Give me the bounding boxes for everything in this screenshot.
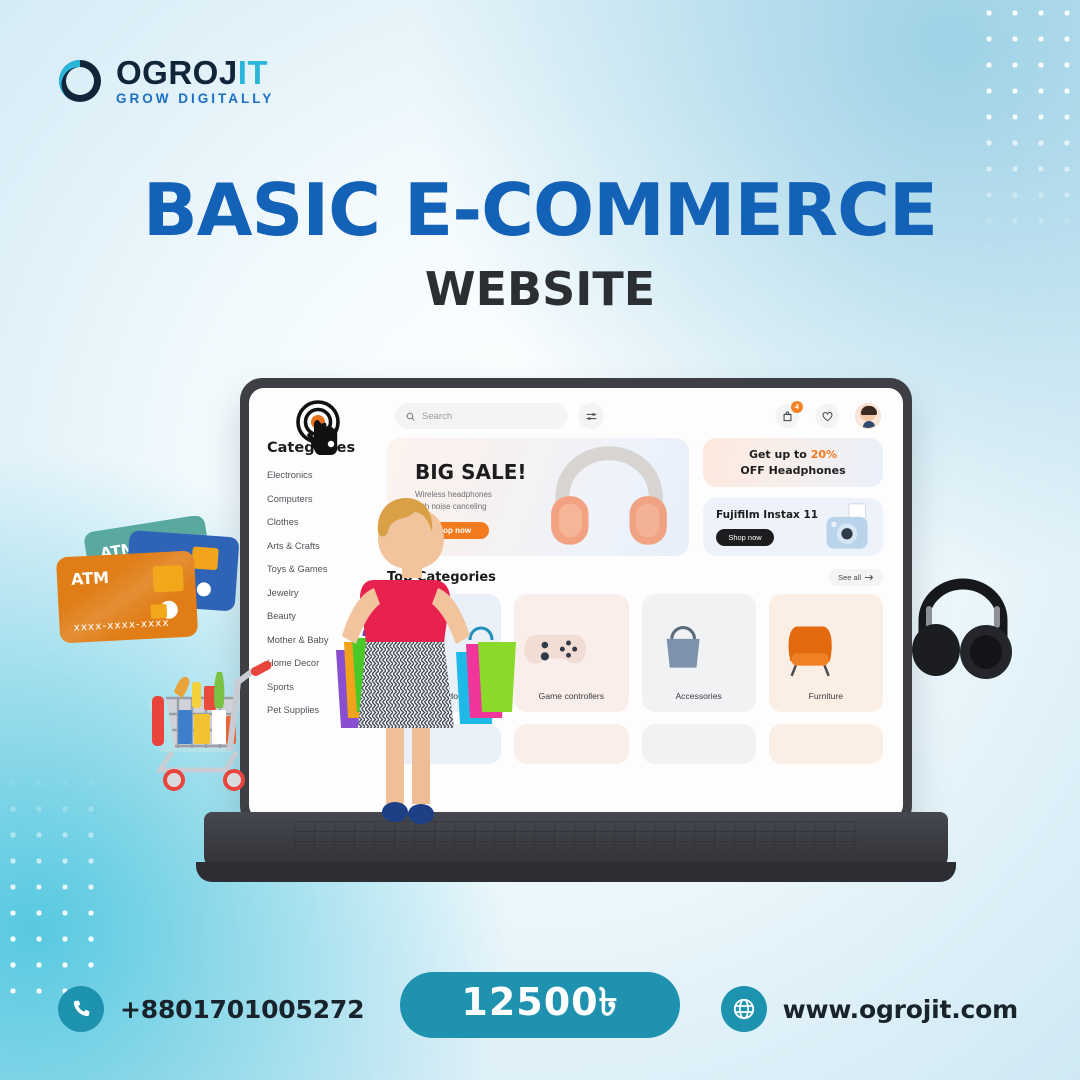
promo-fujifilm[interactable]: Fujifilm Instax 11 Shop now [703,498,883,556]
sidebar-item-electronics[interactable]: Electronics [267,470,385,480]
promo-headphones-discount[interactable]: Get up to 20% OFF Headphones [703,438,883,487]
footer-website[interactable]: www.ogrojit.com [721,986,1018,1032]
game-controller-icon [514,608,596,680]
promo-fujifilm-shop-now-button[interactable]: Shop now [716,529,774,546]
page-subtitle: WEBSITE [0,262,1080,316]
see-all-button[interactable]: See all [829,569,883,586]
cart-button[interactable]: 4 [775,404,799,428]
cart-badge: 4 [791,401,803,413]
shopping-bag-icon [782,411,793,422]
brand-logo: OGROJIT GROW DIGITALLY [56,56,274,106]
promo-text-before: Get up to [749,448,811,461]
laptop-base [204,812,948,870]
promo-highlight: 20% [811,448,837,461]
ring-logo-icon [56,57,104,105]
category-card-partial[interactable] [769,724,883,764]
headphones-peach-icon [543,442,675,554]
shopping-cart-groceries-icon [126,652,294,804]
handbag-icon [642,608,724,680]
sliders-icon [586,411,597,422]
see-all-label: See all [838,573,861,582]
wishlist-button[interactable] [815,404,839,428]
promo-headphones-text: Get up to 20% OFF Headphones [740,447,845,479]
page-title: BASIC E-COMMERCE [0,168,1080,252]
arrow-right-icon [865,574,874,581]
black-headphones-icon [908,566,1018,686]
hand-click-pointer-icon [288,396,358,466]
atm-card-label: ATM [71,568,110,589]
search-placeholder-text: Search [422,411,452,422]
promo-column: Get up to 20% OFF Headphones Fujifilm In… [703,438,883,556]
woman-with-shopping-bags-photo [330,492,520,852]
logo-word-main: OGROJ [116,54,238,91]
price-badge: 12500৳ [400,972,680,1038]
search-input[interactable]: Search [395,403,568,429]
globe-icon [721,986,767,1032]
footer-bar: +8801701005272 12500৳ www.ogrojit.com [0,960,1080,1080]
promo-line2: OFF Headphones [740,464,845,477]
logo-tagline: GROW DIGITALLY [116,92,274,106]
hero-heading: BIG SALE! [415,460,526,484]
category-card-label: Accessories [675,691,721,701]
footer-website-url: www.ogrojit.com [783,995,1018,1024]
phone-icon [58,986,104,1032]
logo-word-accent: IT [238,54,268,91]
category-card-game-controllers[interactable]: Game controllers [514,594,628,712]
user-avatar[interactable] [855,403,881,429]
armchair-icon [769,608,851,680]
category-card-label: Game controllers [539,691,604,701]
footer-phone-number: +8801701005272 [120,995,364,1024]
footer-phone[interactable]: +8801701005272 [58,986,364,1032]
category-card-partial[interactable] [642,724,756,764]
atm-card-icon: ATM ATM xxxx-xxxx-xxxx [46,516,246,656]
category-card-partial[interactable] [514,724,628,764]
logo-wordmark: OGROJIT [116,56,274,89]
filter-button[interactable] [578,403,604,429]
category-card-accessories[interactable]: Accessories [642,594,756,712]
search-icon [406,412,415,421]
instant-camera-icon [819,502,875,558]
category-card-furniture[interactable]: Furniture [769,594,883,712]
category-card-label: Furniture [809,691,843,701]
heart-icon [822,411,833,422]
